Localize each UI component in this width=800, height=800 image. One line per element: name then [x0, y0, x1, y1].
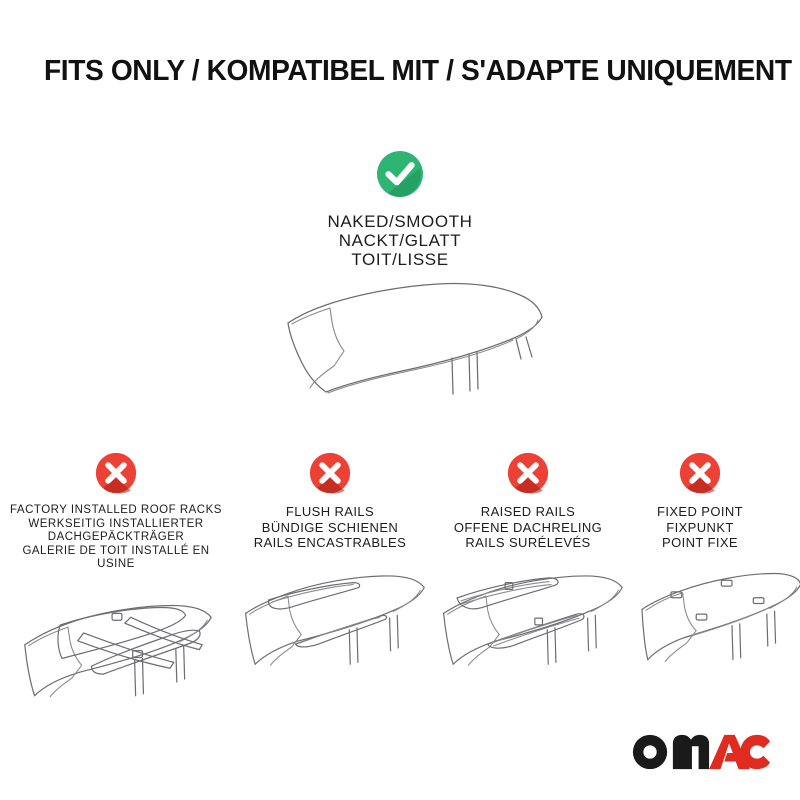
incompatible-label-en: FIXED POINT [632, 504, 768, 520]
incompatible-label-en: FACTORY INSTALLED ROOF RACKS [5, 504, 227, 518]
incompatible-label-fr: RAILS ENCASTRABLES [232, 535, 428, 551]
incompatible-labels: RAISED RAILS OFFENE DACHRELING RAILS SUR… [430, 504, 626, 551]
x-circle-icon [679, 452, 721, 494]
omac-logo [629, 732, 772, 772]
incompatible-section: FACTORY INSTALLED ROOF RACKS WERKSEITIG … [0, 452, 800, 752]
fitment-compatibility-graphic: FITS ONLY / KOMPATIBEL MIT / S'ADAPTE UN… [0, 0, 800, 800]
incompatible-labels: FIXED POINT FIXPUNKT POINT FIXE [632, 504, 768, 551]
incompatible-item-raised-rails: RAISED RAILS OFFENE DACHRELING RAILS SUR… [430, 452, 626, 719]
incompatible-labels: FACTORY INSTALLED ROOF RACKS WERKSEITIG … [5, 504, 227, 572]
car-roof-naked-smooth-illustration [270, 275, 570, 410]
car-roof-flush-rails-illustration [232, 559, 428, 719]
compatible-label-en: NAKED/SMOOTH [250, 212, 550, 231]
car-roof-raised-rails-illustration [430, 559, 626, 719]
x-circle-icon [95, 452, 137, 494]
compatible-label-de: NACKT/GLATT [250, 231, 550, 250]
incompatible-item-fixed-point: FIXED POINT FIXPUNKT POINT FIXE [632, 452, 768, 719]
check-circle-icon [376, 150, 424, 198]
compatible-labels: NAKED/SMOOTH NACKT/GLATT TOIT/LISSE [250, 212, 550, 269]
x-circle-icon [309, 452, 351, 494]
compatible-label-fr: TOIT/LISSE [250, 250, 550, 269]
incompatible-label-de: BÜNDIGE SCHIENEN [232, 520, 428, 536]
incompatible-label-fr: RAILS SURÉLEVÉS [430, 535, 626, 551]
compatible-section: NAKED/SMOOTH NACKT/GLATT TOIT/LISSE [250, 150, 550, 269]
incompatible-label-en: FLUSH RAILS [232, 504, 428, 520]
incompatible-labels: FLUSH RAILS BÜNDIGE SCHIENEN RAILS ENCAS… [232, 504, 428, 551]
incompatible-item-factory-installed-roof-racks: FACTORY INSTALLED ROOF RACKS WERKSEITIG … [5, 452, 227, 740]
incompatible-label-de: OFFENE DACHRELING [430, 520, 626, 536]
page-title: FITS ONLY / KOMPATIBEL MIT / S'ADAPTE UN… [44, 55, 739, 88]
car-roof-fixed-point-illustration [632, 559, 768, 719]
x-circle-icon [507, 452, 549, 494]
incompatible-item-flush-rails: FLUSH RAILS BÜNDIGE SCHIENEN RAILS ENCAS… [232, 452, 428, 719]
incompatible-label-fr: POINT FIXE [632, 535, 768, 551]
incompatible-label-en: RAISED RAILS [430, 504, 626, 520]
incompatible-label-fr: GALERIE DE TOIT INSTALLÉ EN USINE [5, 545, 227, 572]
incompatible-label-de-2: DACHGEPÄCKTRÄGER [5, 531, 227, 545]
incompatible-label-de: FIXPUNKT [632, 520, 768, 536]
incompatible-label-de-1: WERKSEITIG INSTALLIERTER [5, 518, 227, 532]
car-roof-factory-racks-illustration [5, 580, 227, 740]
